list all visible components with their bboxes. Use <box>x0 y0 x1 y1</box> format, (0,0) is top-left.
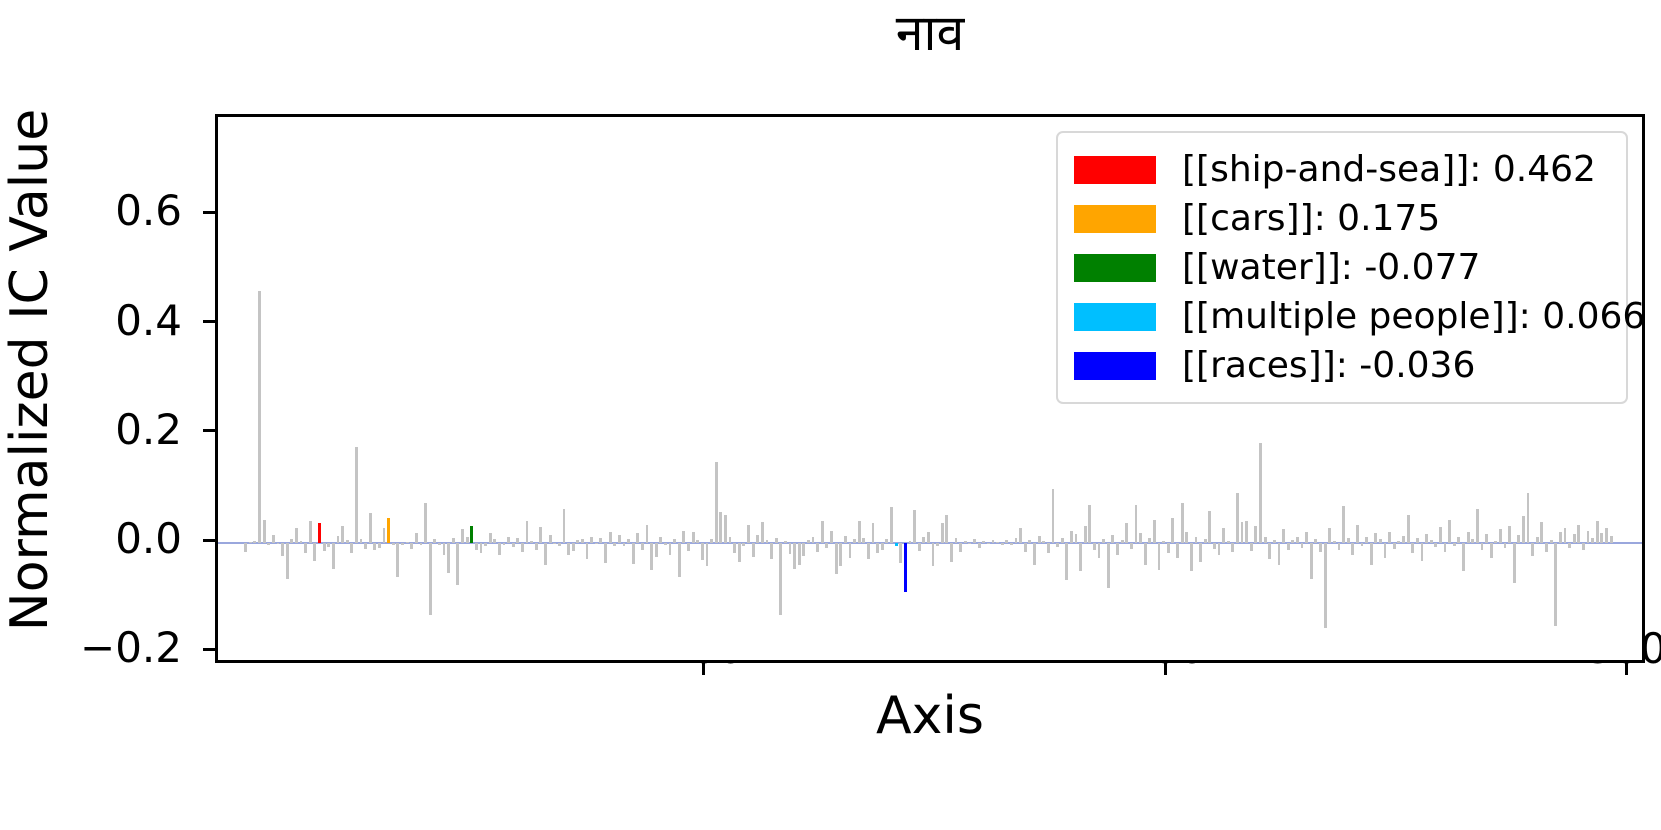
bar <box>323 543 326 551</box>
y-tick-mark <box>203 539 215 542</box>
bar <box>724 515 727 543</box>
figure-root: नाव Normalized IC Value Axis 0.60.40.20.… <box>0 0 1661 830</box>
bar <box>1005 540 1008 543</box>
bar <box>807 540 810 543</box>
bar <box>1527 493 1530 543</box>
bar <box>327 543 330 547</box>
bar <box>1061 538 1064 543</box>
bar <box>456 543 459 585</box>
y-tick-label: 0.2 <box>115 409 182 451</box>
bar <box>1139 533 1142 543</box>
bar <box>558 543 561 546</box>
bar <box>1185 532 1188 543</box>
bar <box>466 537 469 543</box>
bar <box>470 526 473 543</box>
bar <box>1513 543 1516 583</box>
bar <box>1453 543 1456 546</box>
bar <box>1550 540 1553 543</box>
bar <box>1402 536 1405 543</box>
y-tick-label: 0.0 <box>115 518 182 560</box>
y-tick-label: −0.2 <box>80 627 182 669</box>
bar <box>267 543 270 545</box>
bar <box>387 518 390 543</box>
bar <box>1042 541 1045 543</box>
bar <box>567 543 570 555</box>
bar <box>1471 539 1474 543</box>
bar <box>613 543 616 546</box>
bar <box>503 543 506 545</box>
bar <box>1028 540 1031 543</box>
bar <box>941 523 944 543</box>
bar <box>1167 543 1170 553</box>
bar <box>770 543 773 559</box>
bar <box>1374 533 1377 543</box>
bar <box>1407 515 1410 543</box>
bar <box>779 543 782 615</box>
bar <box>590 537 593 544</box>
bar <box>576 540 579 543</box>
bar <box>1019 528 1022 543</box>
bar <box>309 521 312 543</box>
bar <box>443 543 446 554</box>
bar <box>493 539 496 543</box>
bar <box>424 503 427 543</box>
bar <box>1065 543 1068 580</box>
bar <box>701 543 704 560</box>
bar <box>373 543 376 550</box>
bar <box>1130 543 1133 549</box>
bar <box>1047 543 1050 553</box>
bar <box>1111 535 1114 543</box>
bar <box>849 543 852 558</box>
bar <box>1153 520 1156 543</box>
bar <box>987 543 990 544</box>
bar <box>281 543 284 556</box>
y-tick-label: 0.6 <box>115 190 182 232</box>
bar <box>802 543 805 556</box>
bar <box>1199 543 1202 562</box>
bar <box>1481 543 1484 550</box>
legend-item[interactable]: [[water]]: -0.077 <box>1074 243 1612 292</box>
bar <box>798 543 801 565</box>
bar <box>918 543 921 551</box>
bar <box>618 535 621 543</box>
bar <box>553 543 556 544</box>
bar <box>1605 528 1608 543</box>
bar <box>1504 543 1507 548</box>
bar <box>1467 532 1470 543</box>
bar <box>650 543 653 570</box>
bar <box>563 509 566 543</box>
bar <box>876 543 879 553</box>
bar <box>609 532 612 543</box>
bar <box>890 507 893 543</box>
bar <box>595 543 598 544</box>
bar <box>1610 536 1613 543</box>
bar <box>290 539 293 543</box>
bar <box>581 539 584 543</box>
bar <box>1338 543 1341 550</box>
bar <box>1305 532 1308 543</box>
bar <box>1522 516 1525 543</box>
bar <box>752 543 755 557</box>
bar <box>277 543 280 544</box>
legend-color-swatch <box>1074 156 1156 184</box>
bar <box>1600 533 1603 543</box>
bar <box>913 510 916 543</box>
bar <box>447 543 450 572</box>
bar <box>1494 541 1497 543</box>
bar <box>922 537 925 544</box>
bar <box>761 522 764 543</box>
bar <box>1476 509 1479 543</box>
bar <box>636 533 639 543</box>
bar <box>516 538 519 543</box>
bar <box>632 543 635 564</box>
bar <box>1324 543 1327 628</box>
bar <box>1135 505 1138 543</box>
bar <box>945 515 948 543</box>
bar <box>1342 506 1345 543</box>
bar <box>1314 539 1317 543</box>
bar <box>839 543 842 566</box>
bar <box>719 512 722 543</box>
y-tick-mark <box>203 320 215 323</box>
bar <box>904 543 907 592</box>
legend-item[interactable]: [[cars]]: 0.175 <box>1074 194 1612 243</box>
bar <box>982 541 985 543</box>
bar <box>1379 539 1382 543</box>
bar <box>830 531 833 543</box>
bar <box>1278 543 1281 565</box>
bar <box>461 529 464 543</box>
bar <box>742 543 745 546</box>
bar <box>1434 543 1437 547</box>
bar <box>1171 518 1174 543</box>
bar <box>263 520 266 543</box>
bar <box>1204 539 1207 543</box>
bar <box>1444 543 1447 552</box>
bar <box>812 537 815 543</box>
bar <box>1564 528 1567 543</box>
bar <box>1144 543 1147 565</box>
bar <box>1093 543 1096 550</box>
bar <box>692 532 695 543</box>
bar <box>895 543 898 546</box>
legend-color-swatch <box>1074 205 1156 233</box>
bar <box>253 541 256 543</box>
bar <box>1356 525 1359 544</box>
bar <box>1462 543 1465 571</box>
bar <box>1388 532 1391 543</box>
bar <box>872 523 875 543</box>
y-tick-mark <box>203 211 215 214</box>
bar <box>899 543 902 563</box>
bar <box>1176 543 1179 558</box>
bar <box>249 542 252 543</box>
bar <box>475 543 478 550</box>
bar <box>1268 543 1271 559</box>
bar <box>793 543 796 569</box>
bar <box>968 543 971 544</box>
bar <box>867 543 870 559</box>
bar <box>1038 536 1041 543</box>
bar <box>304 543 307 553</box>
bar <box>530 541 533 543</box>
bar <box>1245 521 1248 543</box>
bar <box>706 543 709 566</box>
bar <box>1411 543 1414 553</box>
bar <box>655 543 658 557</box>
bar <box>747 525 750 544</box>
bar <box>489 533 492 543</box>
bar <box>789 543 792 554</box>
bar <box>498 543 501 554</box>
bar <box>996 542 999 543</box>
bar <box>696 540 699 543</box>
bar <box>964 541 967 543</box>
bar <box>825 543 828 548</box>
bar <box>332 543 335 569</box>
bar <box>1347 538 1350 543</box>
bar <box>659 537 662 543</box>
bar <box>1545 543 1548 552</box>
bar <box>885 539 888 543</box>
bar <box>369 513 372 543</box>
bar <box>1254 526 1257 543</box>
bar <box>1365 537 1368 543</box>
x-axis-label: Axis <box>215 686 1645 746</box>
bar <box>1393 543 1396 549</box>
bar <box>1490 543 1493 558</box>
legend-item[interactable]: [[multiple people]]: 0.066 <box>1074 292 1612 341</box>
bar <box>1001 543 1004 545</box>
bar <box>535 543 538 550</box>
bar <box>549 535 552 543</box>
bar <box>1582 543 1585 550</box>
bar <box>429 543 432 615</box>
bar <box>862 538 865 543</box>
bar <box>1554 543 1557 625</box>
bar <box>784 541 787 543</box>
bar <box>586 543 589 559</box>
bar <box>682 531 685 544</box>
bar <box>1070 531 1073 544</box>
bar <box>766 540 769 543</box>
bar <box>1213 543 1216 549</box>
bar <box>438 543 441 545</box>
bar <box>1098 543 1101 558</box>
bar <box>433 539 436 543</box>
bar <box>669 543 672 554</box>
bar <box>1499 529 1502 543</box>
bar <box>1425 534 1428 543</box>
bar <box>272 535 275 543</box>
bar <box>950 543 953 562</box>
bar <box>1250 543 1253 551</box>
bar <box>959 543 962 552</box>
bar <box>318 523 321 543</box>
bar <box>936 543 939 546</box>
bar <box>973 539 976 543</box>
bar <box>258 291 261 543</box>
bar <box>1536 537 1539 544</box>
bar <box>1421 543 1424 561</box>
bar <box>1033 543 1036 565</box>
bar <box>1231 543 1234 552</box>
bar <box>1125 523 1128 543</box>
bar <box>673 539 676 543</box>
bar <box>1457 537 1460 543</box>
legend: [[ship-and-sea]]: 0.462[[cars]]: 0.175[[… <box>1056 131 1628 404</box>
legend-item[interactable]: [[races]]: -0.036 <box>1074 341 1612 390</box>
bar <box>484 543 487 546</box>
bar <box>664 543 667 545</box>
bar <box>816 543 819 552</box>
bar <box>1296 537 1299 544</box>
bar <box>572 543 575 551</box>
bar <box>1024 543 1027 552</box>
bar <box>1218 543 1221 555</box>
legend-label: [[multiple people]]: 0.066 <box>1182 299 1645 335</box>
bar <box>1573 534 1576 543</box>
bar <box>1596 521 1599 543</box>
bar <box>1079 543 1082 571</box>
bar <box>341 526 344 543</box>
bar <box>1559 532 1562 543</box>
bar <box>1241 522 1244 543</box>
bar <box>835 543 838 574</box>
bar <box>927 532 930 543</box>
bar <box>1148 538 1151 543</box>
bar <box>992 540 995 543</box>
legend-label: [[water]]: -0.077 <box>1182 250 1480 286</box>
bar <box>678 543 681 577</box>
bar <box>1107 543 1110 588</box>
bar <box>401 543 404 545</box>
bar <box>507 537 510 544</box>
bar <box>1351 543 1354 555</box>
bar <box>1116 543 1119 554</box>
bar <box>858 521 861 543</box>
bar <box>364 543 367 549</box>
y-tick-label: 0.4 <box>115 300 182 342</box>
y-tick-mark <box>203 429 215 432</box>
bar <box>1291 540 1294 543</box>
bar <box>1301 543 1304 548</box>
bar <box>452 538 455 543</box>
bar <box>1121 540 1124 543</box>
y-axis-label: Normalized IC Value <box>0 20 60 720</box>
legend-color-swatch <box>1074 352 1156 380</box>
bar <box>396 543 399 577</box>
bar <box>715 462 718 543</box>
bar <box>378 543 381 548</box>
legend-color-swatch <box>1074 254 1156 282</box>
bar <box>738 543 741 562</box>
bar <box>1190 543 1193 571</box>
bar <box>1273 540 1276 543</box>
bar <box>646 525 649 544</box>
bar <box>521 543 524 552</box>
bar <box>295 528 298 543</box>
bar <box>346 540 349 543</box>
bar <box>410 543 413 549</box>
bar <box>1102 539 1105 543</box>
bar <box>1222 528 1225 543</box>
legend-item[interactable]: [[ship-and-sea]]: 0.462 <box>1074 145 1612 194</box>
bar <box>1370 543 1373 565</box>
y-tick-mark <box>203 648 215 651</box>
bar <box>512 543 515 547</box>
bar <box>1531 543 1534 556</box>
bar <box>1056 543 1059 547</box>
bar <box>1084 526 1087 543</box>
legend-color-swatch <box>1074 303 1156 331</box>
bar <box>300 541 303 543</box>
bar <box>544 543 547 565</box>
bar <box>1485 534 1488 543</box>
bar <box>1328 528 1331 543</box>
bar <box>1015 538 1018 543</box>
bar <box>821 521 824 543</box>
bar <box>415 533 418 543</box>
bar <box>710 539 713 543</box>
bar <box>1384 543 1387 558</box>
bar <box>480 543 483 553</box>
bar <box>1577 525 1580 544</box>
bar <box>623 543 626 546</box>
bar <box>844 536 847 543</box>
bar <box>1158 543 1161 570</box>
bar <box>599 538 602 543</box>
bar <box>1416 538 1419 543</box>
bar <box>1181 503 1184 543</box>
bar <box>756 535 759 543</box>
bar <box>733 543 736 553</box>
bar <box>881 543 884 550</box>
bar <box>775 538 778 543</box>
bar <box>406 542 409 543</box>
bar <box>392 543 395 545</box>
bar <box>1319 543 1322 552</box>
bar <box>1088 505 1091 543</box>
page-title: नाव <box>215 8 1645 58</box>
bar <box>978 543 981 548</box>
bar <box>526 521 529 543</box>
bar <box>337 536 340 543</box>
bar <box>1591 538 1594 543</box>
bar <box>627 539 630 543</box>
bar <box>1236 493 1239 543</box>
bar <box>1508 526 1511 543</box>
bar <box>604 543 607 563</box>
bar <box>360 539 363 543</box>
bar <box>1195 537 1198 544</box>
bar <box>853 539 856 543</box>
bar <box>350 543 353 553</box>
bar <box>1540 522 1543 543</box>
bar <box>1430 540 1433 543</box>
bar <box>932 543 935 566</box>
bar <box>383 528 386 543</box>
bar <box>1010 543 1013 545</box>
bar <box>1287 543 1290 550</box>
bar <box>909 541 912 543</box>
bar <box>539 527 542 543</box>
bar <box>1227 541 1230 543</box>
legend-label: [[cars]]: 0.175 <box>1182 201 1440 237</box>
